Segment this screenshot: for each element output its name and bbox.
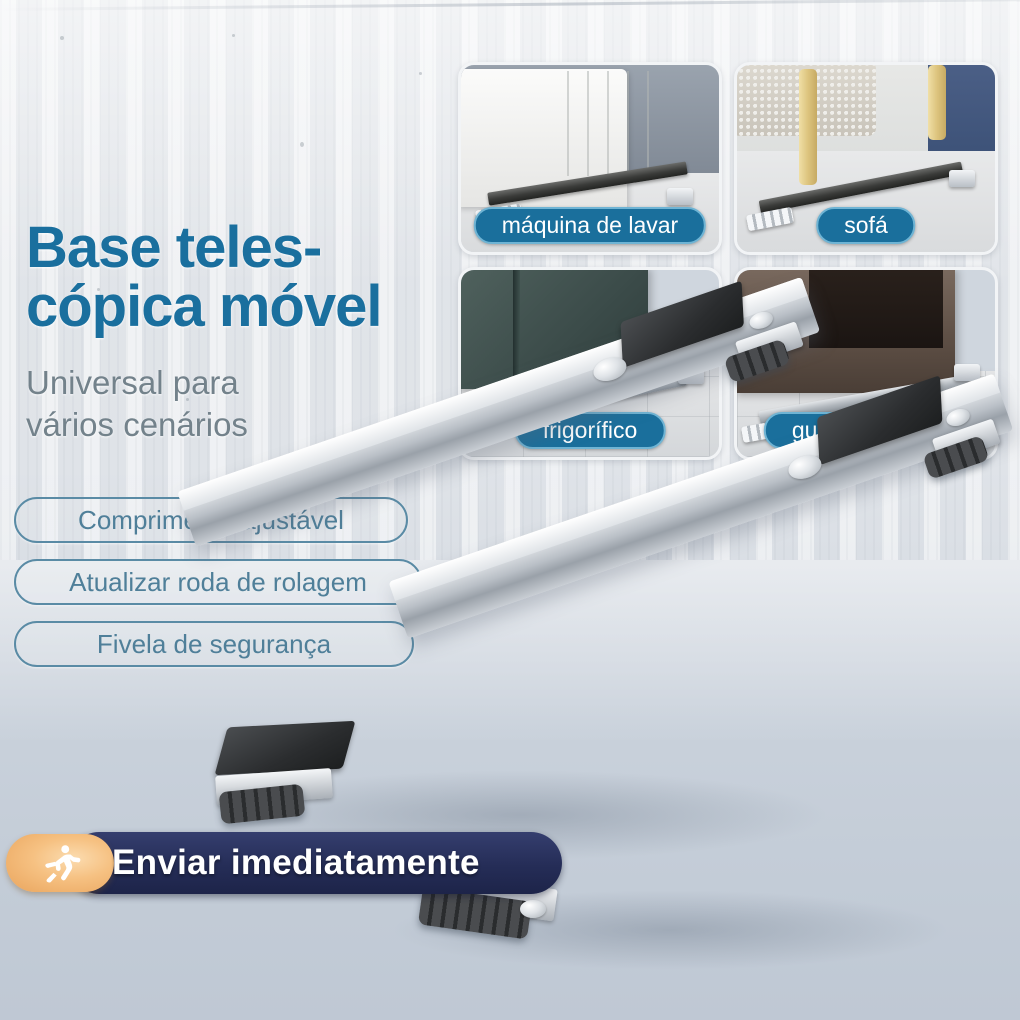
running-person-icon	[39, 842, 81, 884]
cta-label: Enviar imediatamente	[112, 832, 480, 894]
subtitle-line-1: Universal para	[26, 362, 466, 403]
rail-foot	[954, 364, 980, 381]
product-poster: Base teles- cópica móvel Universal para …	[0, 0, 1020, 1020]
rivet	[520, 900, 546, 918]
sofa-frame	[742, 117, 799, 128]
wall-speck	[419, 72, 422, 75]
wall-speck	[232, 34, 235, 37]
appliance-ribs	[549, 71, 657, 176]
product-photo	[0, 470, 1020, 1020]
cta-icon-badge	[6, 834, 114, 892]
headline-line-1: Base teles-	[26, 218, 466, 277]
wall-speck	[300, 142, 304, 147]
rail-foot	[949, 170, 975, 187]
sofa-leg	[799, 69, 817, 185]
use-case-card-washing-machine: máquina de lavar	[458, 62, 722, 255]
rail-foot	[667, 188, 693, 205]
sofa-leg	[928, 65, 946, 140]
headline-line-2: cópica móvel	[26, 277, 466, 336]
wall-seam	[0, 0, 1020, 11]
cta-banner[interactable]: Enviar imediatamente	[6, 832, 562, 894]
wardrobe-opening	[809, 270, 943, 348]
use-case-card-sofa: sofá	[734, 62, 998, 255]
fridge-door-gap	[513, 270, 521, 382]
use-case-label-sofa: sofá	[816, 207, 915, 244]
wall-speck	[60, 36, 64, 40]
rubber-pad	[214, 721, 355, 776]
headline-block: Base teles- cópica móvel Universal para …	[26, 218, 466, 445]
use-case-label-washing-machine: máquina de lavar	[474, 207, 706, 244]
